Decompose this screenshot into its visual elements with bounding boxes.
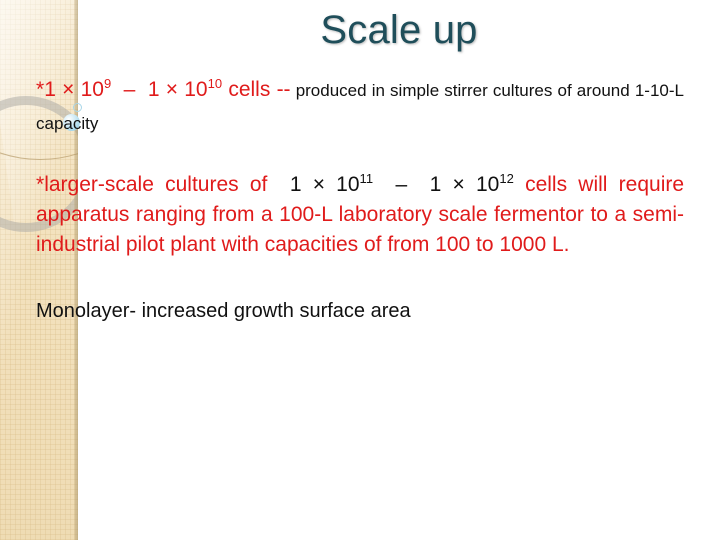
p1-range-b-exponent: 10 [208,76,222,91]
paragraph-3: Monolayer- increased growth surface area [36,296,684,326]
p2-range-dash: – [373,173,430,196]
p1-cells-label: cells [222,78,270,101]
p2-range-b-exponent: 12 [499,171,513,186]
p2-lead-text: larger-scale cultures of [44,173,267,196]
slide-body: *1 × 109 – 1 × 1010 cells -- produced in… [36,74,684,326]
slide-title: Scale up [78,6,720,54]
p1-bullet-marker: * [36,78,44,101]
bullet-paragraph-1: *1 × 109 – 1 × 1010 cells -- produced in… [36,74,684,140]
p1-range-dash: – [111,78,148,101]
p1-range-a-base: 1 × 10 [44,78,104,101]
p2-range-a-exponent: 11 [360,171,374,186]
slide-canvas: Scale up *1 × 109 – 1 × 1010 cells -- pr… [0,0,720,540]
p2-bullet-marker: * [36,173,44,196]
p2-range-b-base: 1 × 10 [430,173,500,196]
p2-range-a-base: 1 × 10 [267,173,359,196]
bullet-paragraph-2: *larger-scale cultures of 1 × 1011 – 1 ×… [36,170,684,260]
p1-range-b-base: 1 × 10 [148,78,208,101]
p1-double-dash: -- [270,78,290,101]
